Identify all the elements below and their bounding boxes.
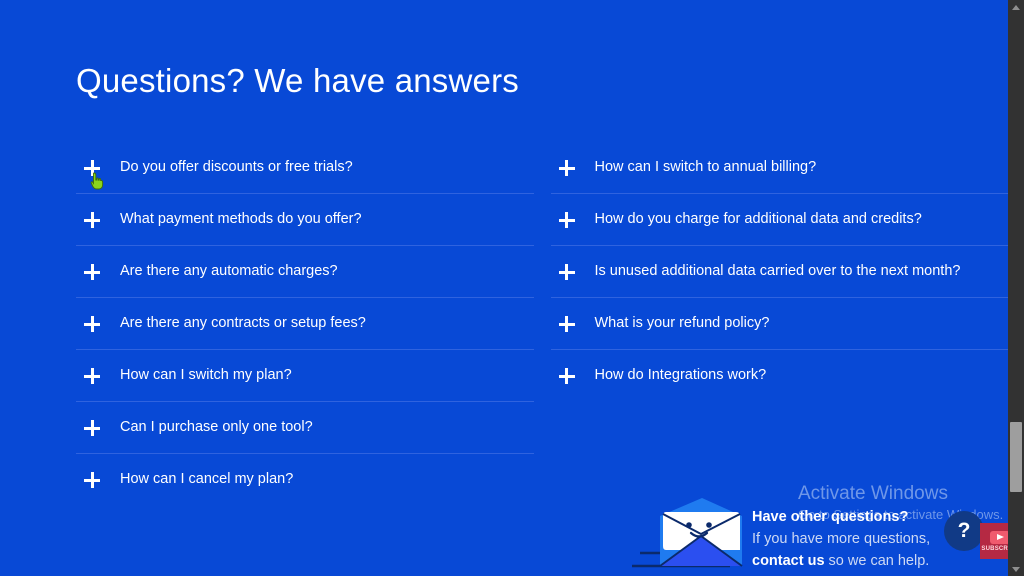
plus-icon [84,316,100,332]
plus-icon [84,420,100,436]
contact-body: If you have more questions, contact us s… [752,528,952,572]
faq-item[interactable]: How do you charge for additional data an… [551,194,1009,246]
faq-item[interactable]: How can I switch my plan? [76,350,534,402]
contact-block: Have other questions? If you have more q… [630,490,960,574]
plus-icon [559,212,575,228]
contact-title: Have other questions? [752,506,952,528]
youtube-play-icon [990,531,1010,544]
plus-icon [84,264,100,280]
faq-column-right: How can I switch to annual billing? How … [551,142,1009,505]
page-title: Questions? We have answers [76,62,519,100]
faq-question: How do you charge for additional data an… [595,208,926,231]
faq-accordion: Do you offer discounts or free trials? W… [0,142,1008,505]
plus-icon [84,160,100,176]
plus-icon [559,368,575,384]
faq-question: How can I switch to annual billing? [595,156,821,179]
faq-item[interactable]: How can I switch to annual billing? [551,142,1009,194]
faq-column-left: Do you offer discounts or free trials? W… [76,142,534,505]
faq-question: What is your refund policy? [595,312,774,335]
contact-text: Have other questions? If you have more q… [750,506,952,574]
faq-question: What payment methods do you offer? [120,208,366,231]
faq-question: Are there any automatic charges? [120,260,342,283]
scrollbar-thumb[interactable] [1010,422,1022,492]
faq-question: How can I switch my plan? [120,364,296,387]
contact-us-link[interactable]: contact us [752,553,825,569]
faq-item[interactable]: Can I purchase only one tool? [76,402,534,454]
vertical-scrollbar[interactable] [1008,0,1024,576]
faq-item[interactable]: What is your refund policy? [551,298,1009,350]
faq-item[interactable]: Are there any contracts or setup fees? [76,298,534,350]
faq-item[interactable]: What payment methods do you offer? [76,194,534,246]
envelope-with-smiling-face-icon [630,490,750,574]
faq-question: Can I purchase only one tool? [120,416,317,439]
faq-item[interactable]: How do Integrations work? [551,350,1009,401]
scroll-up-arrow-icon[interactable] [1008,0,1024,14]
faq-question: How do Integrations work? [595,364,771,387]
faq-item[interactable]: Is unused additional data carried over t… [551,246,1009,298]
help-button[interactable]: ? [944,511,984,551]
plus-icon [84,212,100,228]
faq-item[interactable]: Are there any automatic charges? [76,246,534,298]
faq-item[interactable]: How can I cancel my plan? [76,454,534,505]
faq-question: Do you offer discounts or free trials? [120,156,357,179]
faq-question: Are there any contracts or setup fees? [120,312,370,335]
plus-icon [84,472,100,488]
faq-page: Questions? We have answers Do you offer … [0,0,1008,576]
plus-icon [559,160,575,176]
plus-icon [84,368,100,384]
faq-question: Is unused additional data carried over t… [595,260,965,283]
contact-body-part1: If you have more questions, [752,531,930,547]
plus-icon [559,264,575,280]
contact-body-part2: so we can help. [825,553,930,569]
faq-question: How can I cancel my plan? [120,468,297,491]
plus-icon [559,316,575,332]
faq-item[interactable]: Do you offer discounts or free trials? [76,142,534,194]
scroll-down-arrow-icon[interactable] [1008,562,1024,576]
